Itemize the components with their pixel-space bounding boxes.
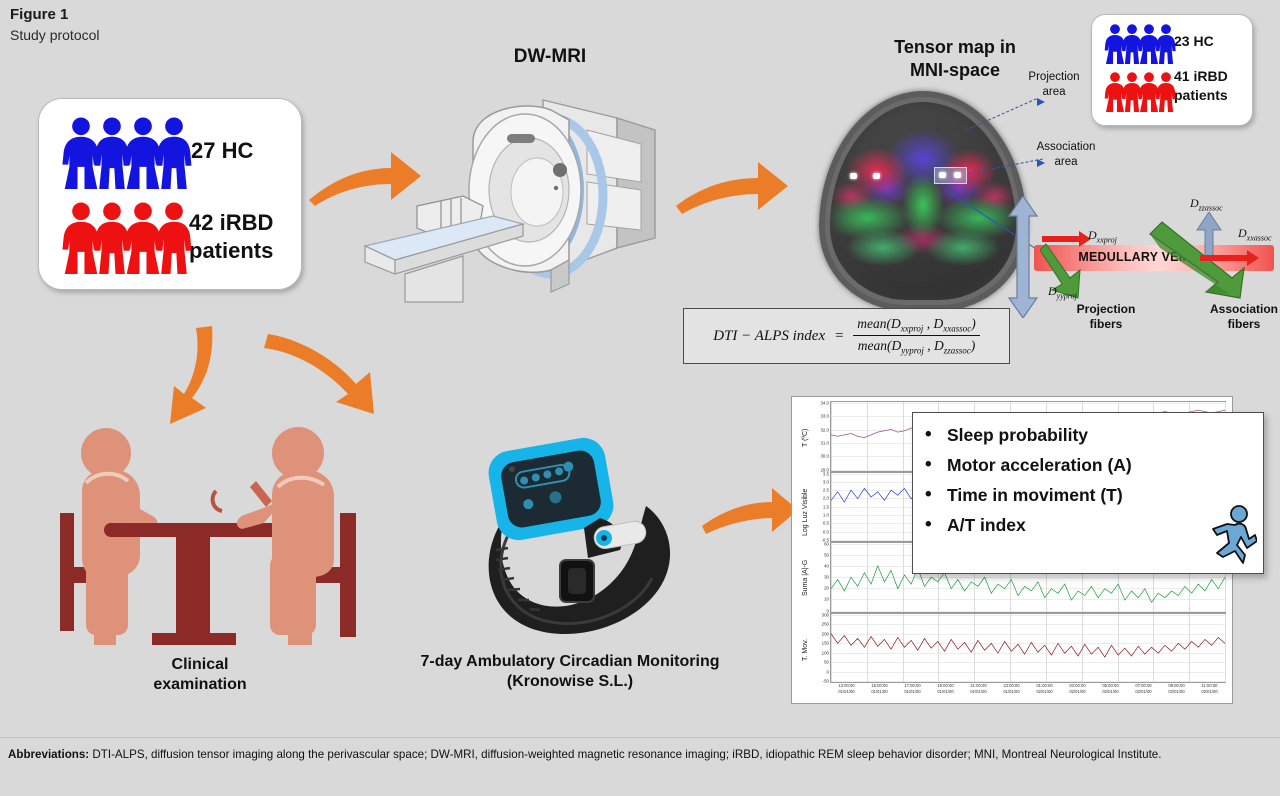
figure-number: Figure 1 (10, 6, 68, 23)
person-icon (61, 202, 101, 274)
patient-count-label-main: 42 iRBD patients (189, 209, 273, 264)
actimetry-caption: 7-day Ambulatory Circadian Monitoring (K… (390, 652, 750, 693)
dti-alps-formula: DTI − ALPS index = mean(Dxxproj , Dxxass… (713, 316, 980, 355)
dxxassoc-label: Dxxassoc (1238, 226, 1272, 242)
outcomes-panel: Sleep probability Motor acceleration (A)… (912, 412, 1264, 574)
dti-colormap (823, 95, 1023, 307)
dyyproj-sub: yyproj (1057, 291, 1077, 300)
chart-y-tick: 250 (822, 622, 829, 627)
smartwatch-illustration (468, 432, 698, 644)
projection-fibers-label: Projection fibers (1063, 302, 1149, 332)
mri-scanner-illustration (355, 78, 675, 303)
chart-x-tick: 19:00:0001/01/00 (937, 683, 953, 695)
dzzassoc-label: Dzzassoc (1190, 196, 1223, 212)
roi-marker-left-1 (850, 173, 857, 179)
chart-x-tick: 15:00:0001/01/00 (871, 683, 887, 695)
chart-y-tick: 1.0 (823, 513, 829, 518)
dti-alps-formula-box: DTI − ALPS index = mean(Dxxproj , Dxxass… (683, 308, 1010, 364)
chart-y-tick: 20 (824, 586, 829, 591)
chart-y-tick: 300 (822, 612, 829, 617)
chart-x-tick: 05:00:0002/01/00 (1102, 683, 1118, 695)
hc-people-group-main (61, 117, 194, 189)
chart-y-tick: 200 (822, 631, 829, 636)
chart-y-tick: 10 (824, 597, 829, 602)
tensor-brain-image (823, 95, 1023, 307)
formula-denominator: mean(Dyyproj , Dzzassoc) (854, 336, 980, 356)
outcome-item: Time in moviment (T) (947, 485, 1253, 506)
cohort-box-sub: 23 HC 41 iRBD patients (1091, 14, 1253, 126)
chart-y-tick: 30.0 (820, 454, 829, 459)
dxxproj-label: Dxxproj (1088, 228, 1117, 244)
dxxproj-sub: xxproj (1097, 235, 1117, 244)
abbreviations-label: Abbreviations: (8, 748, 89, 761)
chart-y-tick: 100 (822, 650, 829, 655)
chart-x-tick: 11:00:0002/01/00 (1201, 683, 1217, 695)
dzzassoc-sub: zzassoc (1199, 203, 1223, 212)
figure-canvas: Figure 1 Study protocol 27 HC 42 iRBD pa… (0, 0, 1280, 796)
chart-x-tick: 03:00:0002/01/00 (1069, 683, 1085, 695)
chart-panel: 300250200150100500-50 (830, 613, 1226, 684)
footer-bar: Abbreviations: DTI-ALPS, diffusion tenso… (0, 737, 1280, 796)
dzzassoc-arrow (1196, 212, 1222, 260)
chart-y-tick: 0 (827, 669, 829, 674)
chart-y-tick: 50 (824, 660, 829, 665)
chart-y-tick: 2.0 (823, 496, 829, 501)
roi-marker-right-2 (954, 172, 961, 178)
chart-gridline (1225, 614, 1226, 683)
dxxassoc-red-arrow (1200, 255, 1248, 261)
projection-area-label: Projection area (1012, 70, 1096, 100)
chart-x-tick: 21:00:0001/01/00 (970, 683, 986, 695)
outcome-item: Sleep probability (947, 425, 1253, 446)
chart-y-tick: 32.0 (820, 427, 829, 432)
formula-fraction: mean(Dxxproj , Dxxassoc) mean(Dyyproj , … (853, 316, 980, 355)
arrow-mri-to-tensor (672, 150, 792, 222)
association-fibers-label: Association fibers (1204, 302, 1280, 332)
chart-y-tick: 50 (824, 553, 829, 558)
vertical-double-arrow (1008, 196, 1038, 318)
chart-y-tick: 34.0 (820, 401, 829, 406)
person-icon (1104, 72, 1126, 112)
arrow-watch-to-chart (700, 480, 800, 542)
chart-x-tick: 23:00:0001/01/00 (1003, 683, 1019, 695)
person-icon (1104, 24, 1126, 64)
patient-people-group-main (61, 202, 194, 274)
chart-x-tick: 13:00:0001/01/00 (838, 683, 854, 695)
roi-marker-right-1 (939, 172, 946, 178)
chart-y-tick: 3.5 (823, 471, 829, 476)
hc-count-label-sub: 23 HC (1174, 33, 1214, 51)
cohort-box-main: 27 HC 42 iRBD patients (38, 98, 302, 290)
outcome-item: Motor acceleration (A) (947, 455, 1253, 476)
chart-y-tick: 40 (824, 564, 829, 569)
figure-subtitle: Study protocol (10, 27, 100, 43)
hc-count-label-main: 27 HC (191, 137, 253, 165)
dxxassoc-sub: xxassoc (1247, 233, 1272, 242)
roi-box-right (934, 167, 967, 184)
patient-count-label-sub: 41 iRBD patients (1174, 67, 1228, 105)
association-area-label: Association area (1022, 140, 1110, 170)
running-person-icon (1205, 505, 1257, 567)
chart-x-tick: 07:00:0002/01/00 (1135, 683, 1151, 695)
chart-y-tick: 150 (822, 641, 829, 646)
hc-people-group-sub (1104, 24, 1177, 64)
abbreviations-body: DTI-ALPS, diffusion tensor imaging along… (89, 748, 1161, 761)
chart-y-tick: 0.0 (823, 529, 829, 534)
chart-x-tick: 01:00:0002/01/00 (1036, 683, 1052, 695)
chart-y-tick: 33.0 (820, 414, 829, 419)
chart-y-tick: -50 (823, 679, 829, 684)
chart-series (831, 614, 1225, 683)
chart-y-tick: 1.5 (823, 504, 829, 509)
formula-lhs: DTI − ALPS index (713, 328, 825, 345)
patient-people-group-sub (1104, 72, 1177, 112)
formula-equals: = (834, 328, 844, 345)
chart-y-tick: 0.5 (823, 521, 829, 526)
chart-x-axis: 13:00:0001/01/0015:00:0001/01/0017:00:00… (830, 683, 1226, 701)
dwmri-title: DW-MRI (440, 45, 660, 69)
dxxproj-red-arrow (1042, 236, 1080, 242)
roi-marker-left-2 (873, 173, 880, 179)
chart-x-tick: 17:00:0001/01/00 (904, 683, 920, 695)
chart-y-tick: 31.0 (820, 440, 829, 445)
dyyproj-label: Dyyproj (1048, 284, 1077, 300)
chart-y-tick: 60 (824, 542, 829, 547)
clinical-examination-illustration (58, 405, 358, 645)
chart-y-tick: 30 (824, 575, 829, 580)
clinical-examination-caption: Clinical examination (100, 655, 300, 696)
abbreviations-text: Abbreviations: DTI-ALPS, diffusion tenso… (8, 746, 1272, 764)
chart-y-tick: 2.5 (823, 488, 829, 493)
chart-x-tick: 09:00:0002/01/00 (1168, 683, 1184, 695)
chart-y-tick: 3.0 (823, 479, 829, 484)
person-icon (61, 117, 101, 189)
formula-numerator: mean(Dxxproj , Dxxassoc) (853, 316, 980, 336)
